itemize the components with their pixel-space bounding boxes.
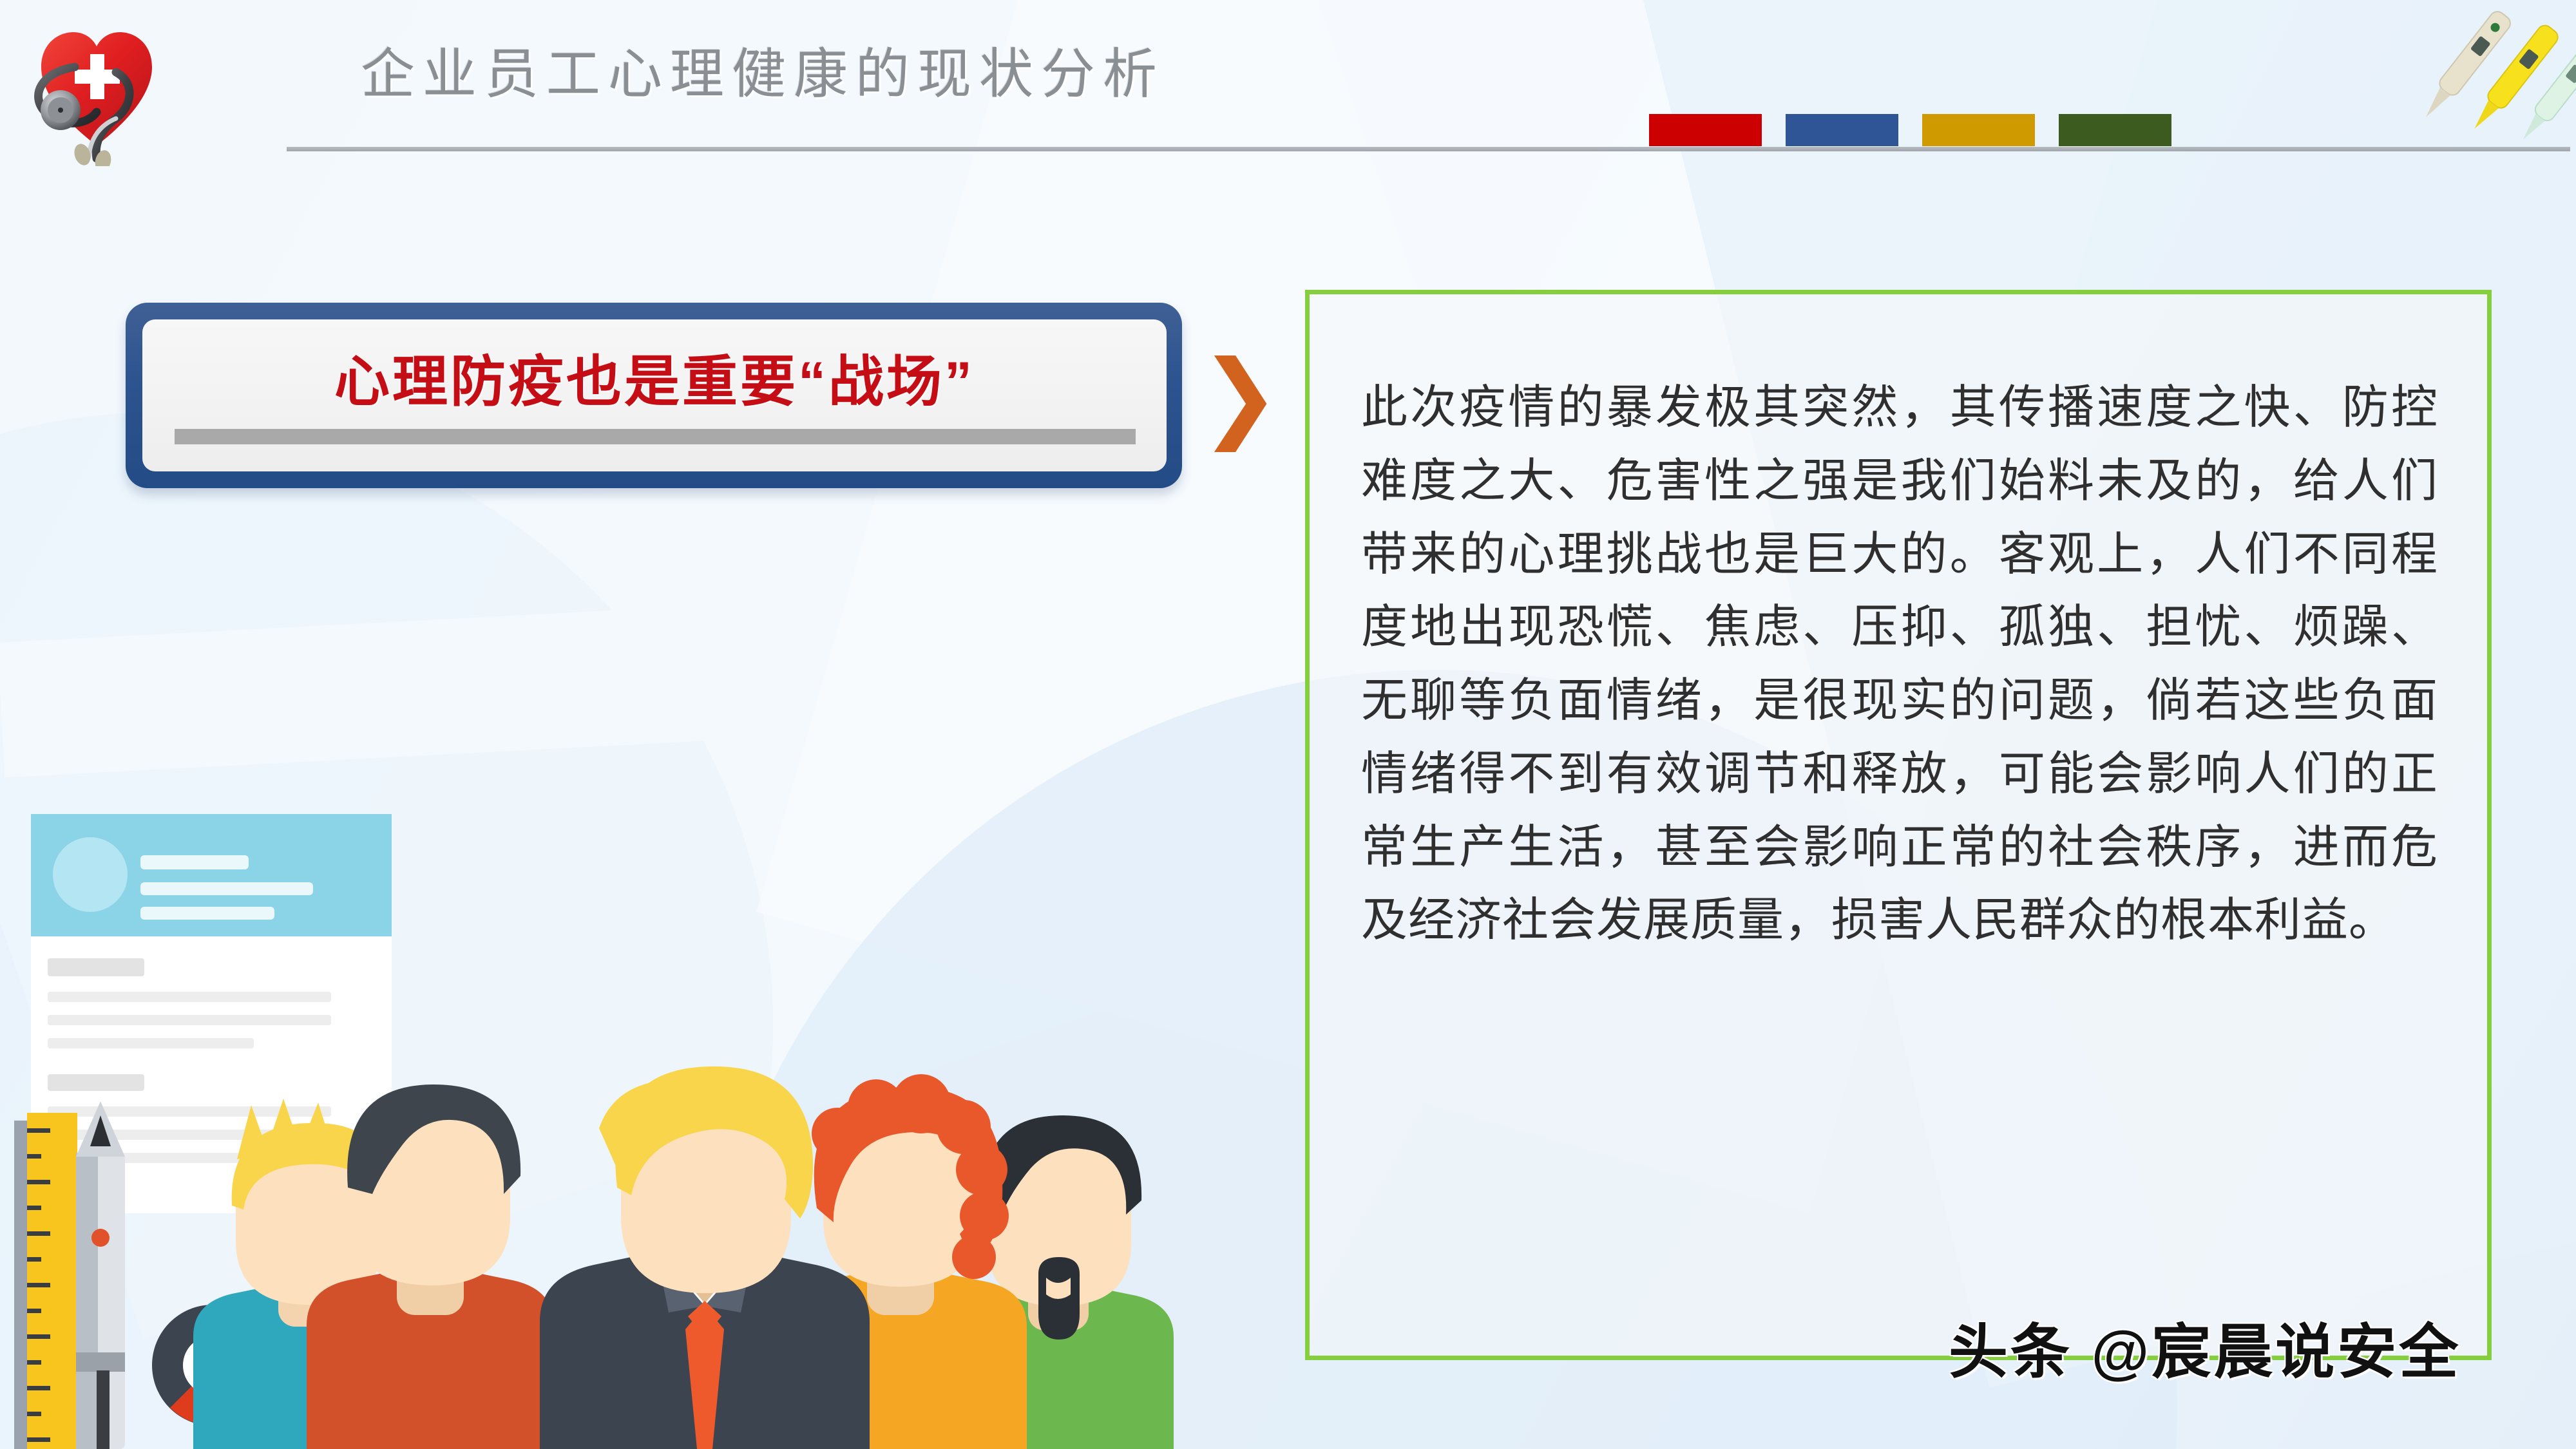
- slide-header: 企业员工心理健康的现状分析: [0, 0, 2576, 161]
- swatch-gold: [1922, 114, 2035, 146]
- ruler: [14, 1113, 77, 1449]
- section-title-underline-bar: [175, 429, 1136, 444]
- swatch-red: [1649, 114, 1762, 146]
- section-title-card[interactable]: 心理防疫也是重要“战场”: [126, 303, 1182, 488]
- business-team-illustration: [0, 799, 1353, 1449]
- content-panel: 此次疫情的暴发极其突然，其传播速度之快、防控难度之大、危害性之强是我们始料未及的…: [1305, 290, 2492, 1360]
- watermark-text: 头条 @宸晨说安全: [1949, 1304, 2461, 1390]
- body-paragraph: 此次疫情的暴发极其突然，其传播速度之快、防控难度之大、危害性之强是我们始料未及的…: [1361, 372, 2438, 958]
- swatch-green: [2059, 114, 2171, 146]
- heart-stethoscope-icon: [19, 5, 200, 166]
- header-color-swatches: [1649, 114, 2171, 146]
- section-title-text: 心理防疫也是重要“战场”: [142, 336, 1167, 417]
- swatch-blue: [1786, 114, 1898, 146]
- thermometer-icons: [2396, 0, 2576, 148]
- header-divider: [287, 147, 2570, 151]
- section-title-inner: 心理防疫也是重要“战场”: [142, 319, 1167, 471]
- chevron-right-icon[interactable]: ❯: [1199, 348, 1281, 444]
- page-title: 企业员工心理健康的现状分析: [361, 31, 1165, 109]
- pen: [76, 1101, 125, 1449]
